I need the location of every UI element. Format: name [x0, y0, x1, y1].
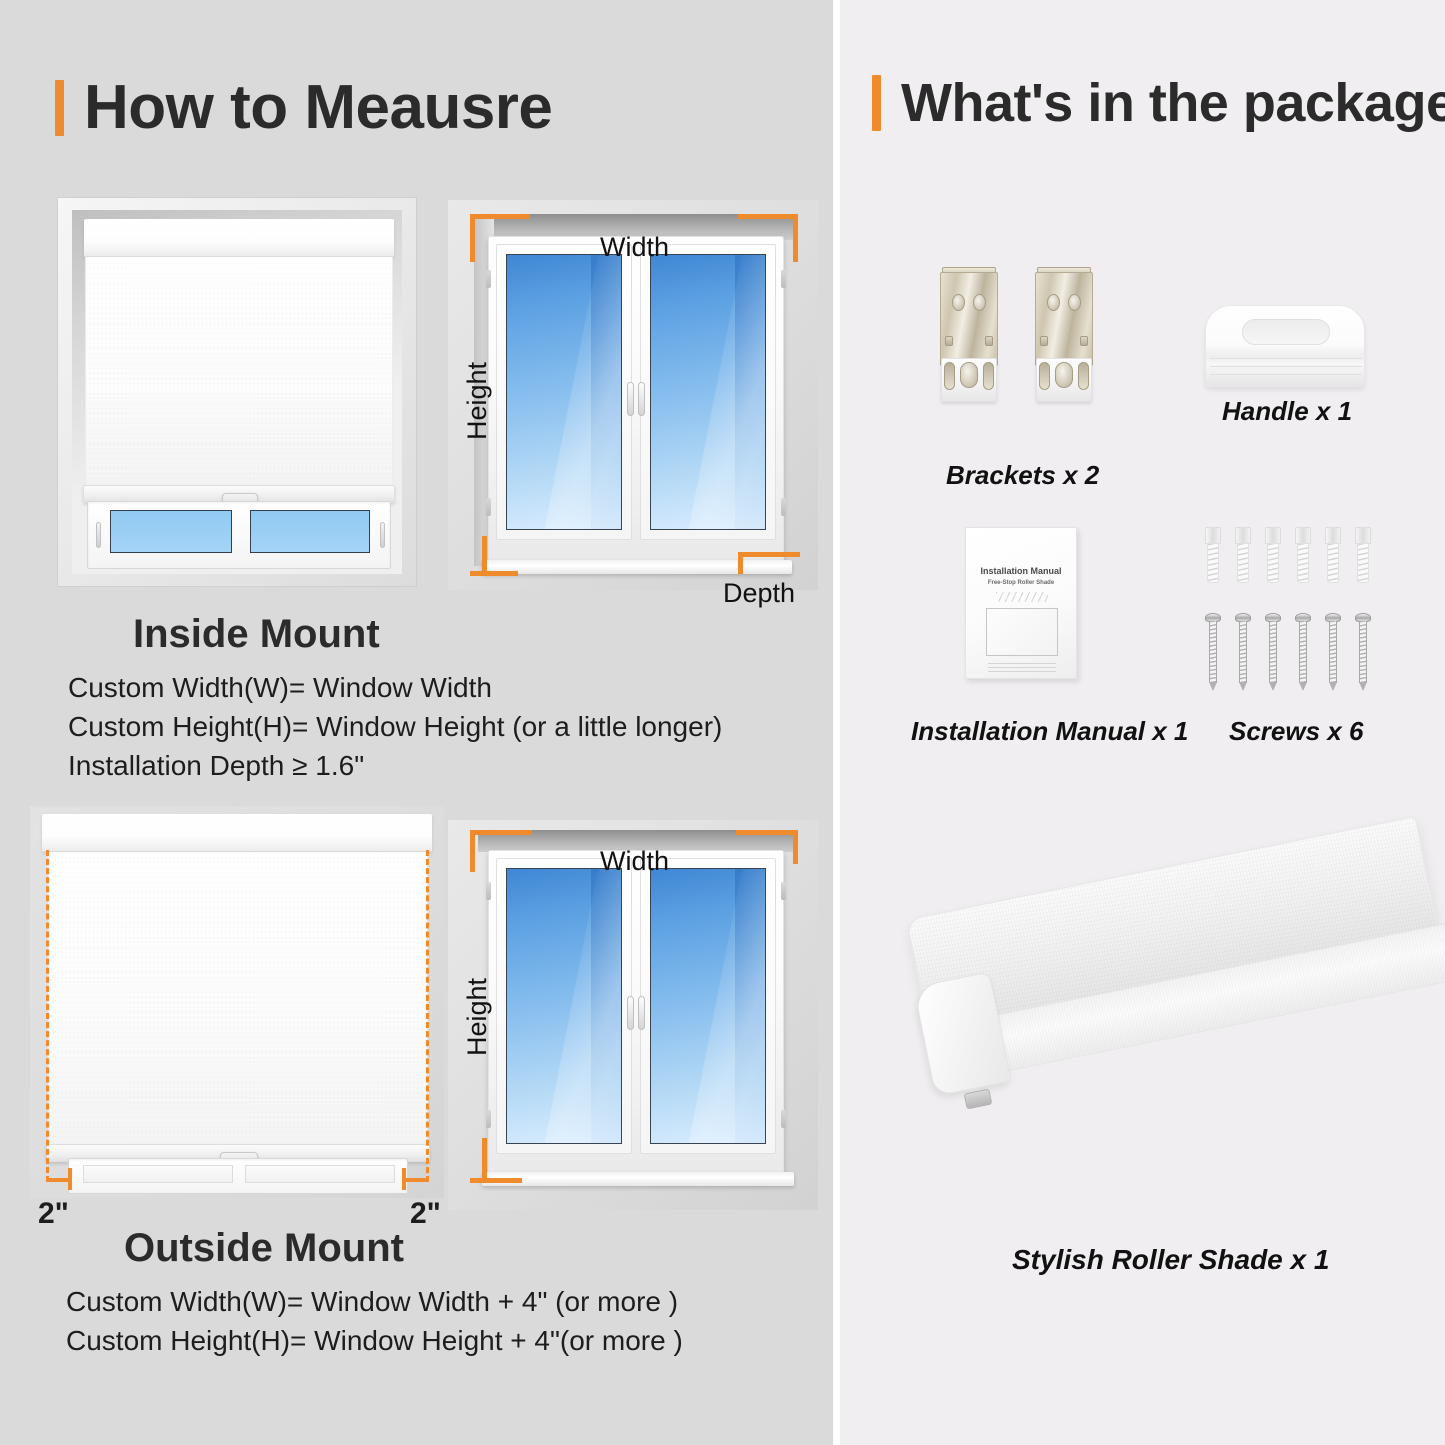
window-glass-right [650, 868, 766, 1144]
overhang-label-left: 2" [38, 1197, 69, 1231]
inside-mount-specs: Custom Width(W)= Window Width Custom Hei… [68, 670, 722, 787]
width-mark-right-vertical [793, 830, 798, 864]
spec-line: Custom Height(H)= Window Height (or a li… [68, 709, 722, 745]
window-handle-right [638, 382, 645, 416]
window-handle-left [627, 382, 634, 416]
overhang-cap-left [68, 1168, 72, 1190]
overhang-guide-left [46, 850, 49, 1182]
depth-mark-vertical-right [793, 214, 798, 262]
bracket-tab [1040, 336, 1048, 346]
anchor-collar [1205, 527, 1221, 544]
width-mark-right-top [736, 830, 798, 835]
screw-shaft [1269, 621, 1277, 683]
package-contents-heading: What's in the package [872, 72, 1445, 134]
accent-bar-icon [872, 75, 881, 131]
depth-mark-vertical [738, 552, 743, 574]
handle-ridge [1210, 358, 1362, 359]
screw-icon [1265, 613, 1281, 691]
label-width: Width [600, 846, 669, 877]
wall-anchor-icon [1325, 527, 1341, 583]
spec-line: Custom Width(W)= Window Width + 4" (or m… [66, 1284, 683, 1320]
brackets-label: Brackets x 2 [946, 460, 1099, 491]
window-handle-right [638, 996, 645, 1030]
anchor-collar [1355, 527, 1371, 544]
bracket-slot [944, 362, 955, 390]
bracket-icon [1035, 272, 1093, 402]
accent-bar-icon [55, 80, 64, 136]
height-mark-top [470, 830, 475, 872]
anchor-body [1207, 543, 1219, 583]
screw-tip [1359, 682, 1367, 691]
wall-anchor-icon [1295, 527, 1311, 583]
window-sash-right [640, 858, 776, 1154]
screw-tip [1329, 682, 1337, 691]
screw-icon [1205, 613, 1221, 691]
window-pane-right [250, 510, 370, 553]
anchor-collar [1235, 527, 1251, 544]
screw-tip [1239, 682, 1247, 691]
window-pane-right [245, 1165, 395, 1183]
manual-cover-title: Installation Manual [966, 566, 1076, 576]
manual-label: Installation Manual x 1 [911, 716, 1188, 747]
inside-mount-title: Inside Mount [133, 612, 380, 657]
shade-fabric [85, 257, 393, 489]
window-sash-left [496, 244, 632, 540]
bracket-center-hole [960, 362, 978, 388]
roller-shade-label: Stylish Roller Shade x 1 [1012, 1244, 1329, 1276]
panel-divider [833, 0, 840, 1445]
manual-cover-subtitle: Free-Stop Roller Shade [966, 580, 1076, 586]
headrail [42, 814, 432, 852]
manual-cover-diagram [986, 608, 1058, 656]
glass-glare [735, 869, 765, 1143]
window-sill [482, 1172, 794, 1186]
spec-line: Custom Width(W)= Window Width [68, 670, 722, 706]
wall-anchor-icon [1265, 527, 1281, 583]
bracket-slot [1078, 362, 1089, 390]
window-below-shade [87, 501, 391, 569]
height-mark-bottom [482, 1138, 487, 1182]
heading-text: How to Meausre [84, 72, 552, 143]
roller-shade-item [905, 895, 1435, 1195]
bracket-body [940, 272, 998, 366]
height-mark-bottom [482, 536, 487, 576]
outside-mount-shade-illustration [30, 806, 444, 1198]
heading-text: What's in the package [901, 72, 1445, 134]
bracket-tab [985, 336, 993, 346]
glass-glare [591, 255, 621, 529]
glass-glare [591, 869, 621, 1143]
bracket-slot [983, 362, 994, 390]
screw-tip [1299, 682, 1307, 691]
screws-label: Screws x 6 [1229, 716, 1363, 747]
screw-shaft [1299, 621, 1307, 683]
window-hinge-upper-right [781, 270, 786, 288]
screw-icon [1355, 613, 1371, 691]
bracket-hole [973, 294, 986, 311]
roller-shade-pin [964, 1089, 993, 1110]
screw-shaft [1209, 621, 1217, 683]
bracket-tab [1080, 336, 1088, 346]
window-frame [488, 850, 784, 1178]
spec-line: Installation Depth ≥ 1.6" [68, 748, 722, 784]
label-height: Height [462, 362, 493, 440]
screw-shaft [1359, 621, 1367, 683]
depth-mark-horizontal [738, 552, 800, 557]
anchor-body [1237, 543, 1249, 583]
how-to-measure-heading: How to Meausre [55, 72, 552, 143]
window-hinge-upper-right [781, 882, 786, 900]
screw-icon [1325, 613, 1341, 691]
outside-mount-specs: Custom Width(W)= Window Width + 4" (or m… [66, 1284, 683, 1362]
handle-label: Handle x 1 [1222, 396, 1352, 427]
screw-icon [1295, 613, 1311, 691]
window-hinge-lower-right [781, 1110, 786, 1128]
window-pane-left [110, 510, 232, 553]
manual-item: Installation Manual Free-Stop Roller Sha… [965, 527, 1085, 687]
bracket-slot [1039, 362, 1050, 390]
bracket-hole [952, 294, 965, 311]
handle-grip-hole [1242, 319, 1330, 345]
window-glass-left [506, 254, 622, 530]
anchor-body [1267, 543, 1279, 583]
screw-icon [1235, 613, 1251, 691]
wall-anchor-icon [1355, 527, 1371, 583]
window-hinge-lower-right [781, 498, 786, 516]
handle-item [1205, 305, 1375, 395]
handle-icon [1205, 305, 1365, 387]
anchor-collar [1325, 527, 1341, 544]
height-mark-bottom-cap [470, 1178, 522, 1183]
manual-cover-footer-text [988, 662, 1056, 672]
screws-item [1205, 527, 1385, 697]
glass-glare [735, 255, 765, 529]
spec-line: Custom Height(H)= Window Height + 4"(or … [66, 1323, 683, 1359]
window-sill [482, 560, 792, 574]
width-mark-left-top [470, 830, 532, 835]
handle-ridge [1210, 374, 1362, 375]
window-sash-right [640, 244, 776, 540]
anchor-collar [1295, 527, 1311, 544]
shade-fabric [48, 852, 428, 1148]
outside-mount-window-diagram: Width Height [448, 820, 818, 1210]
handle-ridge [1210, 366, 1362, 367]
screw-shaft [1239, 621, 1247, 683]
window-handle-left [96, 522, 101, 548]
brackets-item [930, 272, 1130, 442]
label-height: Height [462, 978, 493, 1056]
manual-cover-scribble [996, 592, 1048, 602]
window-hinge-lower-left [486, 1110, 491, 1128]
window-hinge-upper-left [486, 882, 491, 900]
window-sash-left [496, 858, 632, 1154]
infographic-page: How to Meausre What's in the package [0, 0, 1445, 1445]
headrail [84, 219, 394, 257]
bracket-body [1035, 272, 1093, 366]
bracket-hole [1047, 294, 1060, 311]
window-hinge-upper-left [486, 270, 491, 288]
anchor-body [1297, 543, 1309, 583]
inside-mount-shade-illustration [57, 197, 417, 587]
width-mark-left-top [470, 214, 530, 219]
height-mark-bottom-cap [470, 571, 518, 576]
outside-mount-title: Outside Mount [124, 1226, 404, 1271]
anchor-body [1357, 543, 1369, 583]
window-glass-right [650, 254, 766, 530]
overhang-cap-right [402, 1168, 406, 1190]
screw-tip [1269, 682, 1277, 691]
window-behind-shade [68, 1158, 408, 1194]
bracket-icon [940, 272, 998, 402]
installation-manual-icon: Installation Manual Free-Stop Roller Sha… [965, 527, 1077, 679]
bracket-hole [1068, 294, 1081, 311]
width-mark-right-top [738, 214, 798, 219]
bracket-tab [945, 336, 953, 346]
inside-mount-window-diagram: Width Height Depth [448, 200, 818, 590]
window-pane-left [83, 1165, 233, 1183]
anchor-collar [1265, 527, 1281, 544]
anchor-body [1327, 543, 1339, 583]
bracket-center-hole [1055, 362, 1073, 388]
wall-anchor-icon [1235, 527, 1251, 583]
window-hinge-lower-left [486, 498, 491, 516]
overhang-label-right: 2" [410, 1197, 441, 1231]
window-handle-left [627, 996, 634, 1030]
label-width: Width [600, 232, 669, 263]
window-handle-right [380, 522, 385, 548]
wall-anchor-icon [1205, 527, 1221, 583]
window-glass-left [506, 868, 622, 1144]
label-depth: Depth [723, 578, 795, 609]
height-mark-top [470, 214, 475, 262]
window-frame [488, 236, 784, 564]
screw-tip [1209, 682, 1217, 691]
overhang-guide-right [426, 850, 429, 1182]
screw-shaft [1329, 621, 1337, 683]
